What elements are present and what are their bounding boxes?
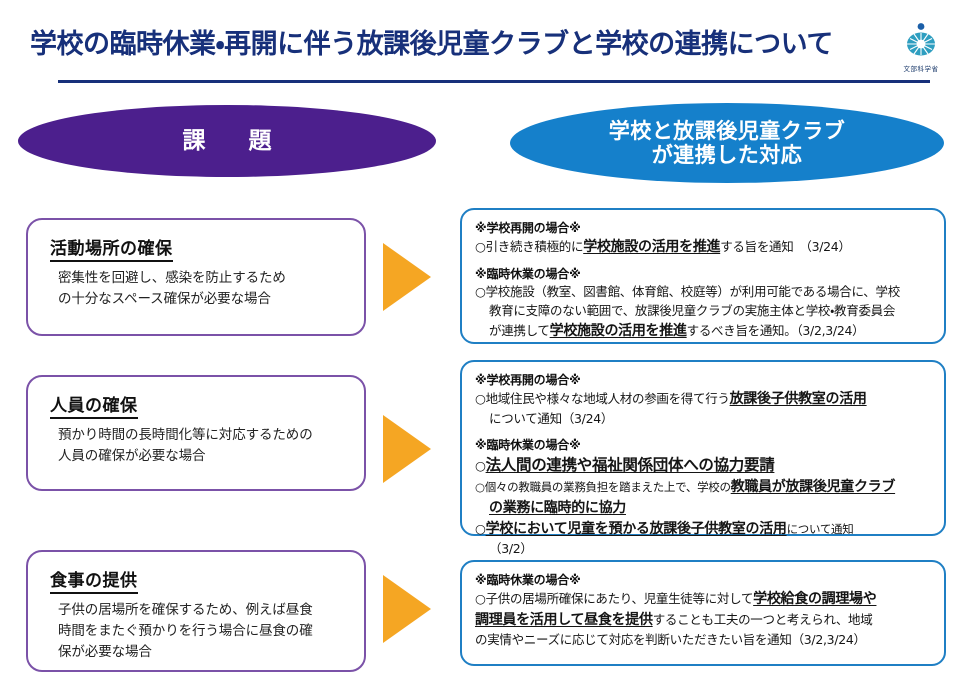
section-line: について通知（3/24） xyxy=(475,410,932,429)
challenge-card-meals: 食事の提供 子供の居場所を確保するため、例えば昼食 時間をまたぐ預かりを行う場合… xyxy=(26,550,366,672)
right-arrow-icon xyxy=(383,415,431,483)
emphasis-text: 学校施設の活用を推進 xyxy=(583,239,720,255)
emphasis-text: の業務に臨時的に協力 xyxy=(489,500,626,516)
section-heading: ※臨時休業の場合※ xyxy=(475,571,932,588)
section-line: 教育に支障のない範囲で、放課後児童クラブの実施主体と学校・教育委員会 xyxy=(475,302,932,321)
response-panel-meals: ※臨時休業の場合※ ○子供の居場所確保にあたり、児童生徒等に対して学校給食の調理… xyxy=(460,560,946,666)
challenge-card-activity-space: 活動場所の確保 密集性を回避し、感染を防止するため の十分なスペース確保が必要な… xyxy=(26,218,366,336)
card-body-line: の十分なスペース確保が必要な場合 xyxy=(58,289,346,310)
content-row-2: 人員の確保 預かり時間の長時間化等に対応するための 人員の確保が必要な場合 ※学… xyxy=(0,360,960,542)
card-body-line: 子供の居場所を確保するため、例えば昼食 xyxy=(58,600,346,621)
line-text: するべき旨を通知。（3/2,3/24） xyxy=(687,323,865,338)
response-banner: 学校と放課後児童クラブ が連携した対応 xyxy=(510,103,944,183)
response-panel-activity-space: ※学校再開の場合※ ○引き続き積極的に学校施設の活用を推進する旨を通知 （3/2… xyxy=(460,208,946,344)
line-text: が連携して xyxy=(489,323,550,338)
section-line: ○学校施設（教室、図書館、体育館、校庭等）が利用可能である場合に、学校 xyxy=(475,283,932,302)
content-row-3: 食事の提供 子供の居場所を確保するため、例えば昼食 時間をまたぐ預かりを行う場合… xyxy=(0,550,960,678)
card-body-line: 保が必要な場合 xyxy=(58,642,346,663)
card-body-line: 人員の確保が必要な場合 xyxy=(58,446,346,467)
emphasis-text: 法人間の連携や福祉関係団体への協力要請 xyxy=(486,456,775,474)
card-body: 子供の居場所を確保するため、例えば昼食 時間をまたぐ預かりを行う場合に昼食の確 … xyxy=(50,600,346,663)
panel-section-temporary-closure: ※臨時休業の場合※ ○子供の居場所確保にあたり、児童生徒等に対して学校給食の調理… xyxy=(475,571,932,650)
card-title: 人員の確保 xyxy=(50,391,138,419)
section-bullet: ○学校において児童を預かる放課後子供教室の活用について通知 xyxy=(475,519,932,540)
title-divider xyxy=(58,80,930,83)
line-text: ○個々の教職員の業務負担を踏まえた上で、学校の xyxy=(475,480,731,494)
panel-section-school-reopen: ※学校再開の場合※ ○地域住民や様々な地域人材の参画を得て行う放課後子供教室の活… xyxy=(475,371,932,429)
page-header: 学校の臨時休業・再開に伴う放課後児童クラブと学校の連携について 文部 xyxy=(0,0,960,96)
card-title: 活動場所の確保 xyxy=(50,234,173,262)
section-line: ○地域住民や様々な地域人材の参画を得て行う放課後子供教室の活用 xyxy=(475,389,932,410)
page-title: 学校の臨時休業・再開に伴う放課後児童クラブと学校の連携について xyxy=(30,30,880,60)
emphasis-text: 教職員が放課後児童クラブ xyxy=(731,479,895,495)
panel-section-school-reopen: ※学校再開の場合※ ○引き続き積極的に学校施設の活用を推進する旨を通知 （3/2… xyxy=(475,219,932,258)
emphasis-text: 学校施設の活用を推進 xyxy=(550,323,687,339)
section-line: ○子供の居場所確保にあたり、児童生徒等に対して学校給食の調理場や xyxy=(475,589,932,610)
card-body: 預かり時間の長時間化等に対応するための 人員の確保が必要な場合 xyxy=(50,425,346,467)
card-body-line: 預かり時間の長時間化等に対応するための xyxy=(58,425,346,446)
section-line: の実情やニーズに応じて対応を判断いただきたい旨を通知（3/2,3/24） xyxy=(475,631,932,650)
mext-logo: 文部科学省 xyxy=(893,22,949,84)
line-text: について通知 xyxy=(787,522,854,536)
right-arrow-icon xyxy=(383,243,431,311)
section-heading: ※学校再開の場合※ xyxy=(475,219,932,236)
section-bullet: ○個々の教職員の業務負担を踏まえた上で、学校の教職員が放課後児童クラブ xyxy=(475,477,932,498)
section-line: ○引き続き積極的に学校施設の活用を推進する旨を通知 （3/24） xyxy=(475,237,932,258)
emphasis-text: 調理員を活用して昼食を提供 xyxy=(475,612,653,628)
section-line: が連携して学校施設の活用を推進するべき旨を通知。（3/2,3/24） xyxy=(475,321,932,342)
mext-emblem-icon xyxy=(901,22,941,62)
card-body-line: 密集性を回避し、感染を防止するため xyxy=(58,268,346,289)
bullet-mark: ○ xyxy=(475,458,486,473)
mext-logo-caption: 文部科学省 xyxy=(893,63,949,73)
emphasis-text: 学校において児童を預かる放課後子供教室の活用 xyxy=(486,521,787,537)
challenge-banner: 課 題 xyxy=(18,105,436,177)
line-text: ○地域住民や様々な地域人材の参画を得て行う xyxy=(475,391,730,406)
section-heading: ※臨時休業の場合※ xyxy=(475,436,932,453)
response-panel-staffing: ※学校再開の場合※ ○地域住民や様々な地域人材の参画を得て行う放課後子供教室の活… xyxy=(460,360,946,536)
line-text: することも工夫の一つと考えられ、地域 xyxy=(653,612,873,627)
emphasis-text: 放課後子供教室の活用 xyxy=(730,391,867,407)
line-text: ○子供の居場所確保にあたり、児童生徒等に対して xyxy=(475,591,753,606)
line-text: ○引き続き積極的に xyxy=(475,239,583,254)
line-text: する旨を通知 （3/24） xyxy=(720,239,850,254)
card-title: 食事の提供 xyxy=(50,566,138,594)
section-line: の業務に臨時的に協力 xyxy=(475,498,932,519)
section-line: 調理員を活用して昼食を提供することも工夫の一つと考えられ、地域 xyxy=(475,610,932,631)
panel-section-temporary-closure: ※臨時休業の場合※ ○法人間の連携や福祉関係団体への協力要請 ○個々の教職員の業… xyxy=(475,436,932,559)
response-banner-line1: 学校と放課後児童クラブ xyxy=(609,119,846,143)
bullet-mark: ○ xyxy=(475,521,486,536)
card-body-line: 時間をまたぐ預かりを行う場合に昼食の確 xyxy=(58,621,346,642)
section-bullet: ○法人間の連携や福祉関係団体への協力要請 xyxy=(475,454,932,477)
section-heading: ※学校再開の場合※ xyxy=(475,371,932,388)
emphasis-text: 学校給食の調理場や xyxy=(753,591,876,607)
response-banner-line2: が連携した対応 xyxy=(609,143,846,167)
card-body: 密集性を回避し、感染を防止するため の十分なスペース確保が必要な場合 xyxy=(50,268,346,310)
panel-section-temporary-closure: ※臨時休業の場合※ ○学校施設（教室、図書館、体育館、校庭等）が利用可能である場… xyxy=(475,265,932,342)
challenge-card-staffing: 人員の確保 預かり時間の長時間化等に対応するための 人員の確保が必要な場合 xyxy=(26,375,366,491)
right-arrow-icon xyxy=(383,575,431,643)
section-heading: ※臨時休業の場合※ xyxy=(475,265,932,282)
content-row-1: 活動場所の確保 密集性を回避し、感染を防止するため の十分なスペース確保が必要な… xyxy=(0,208,960,348)
